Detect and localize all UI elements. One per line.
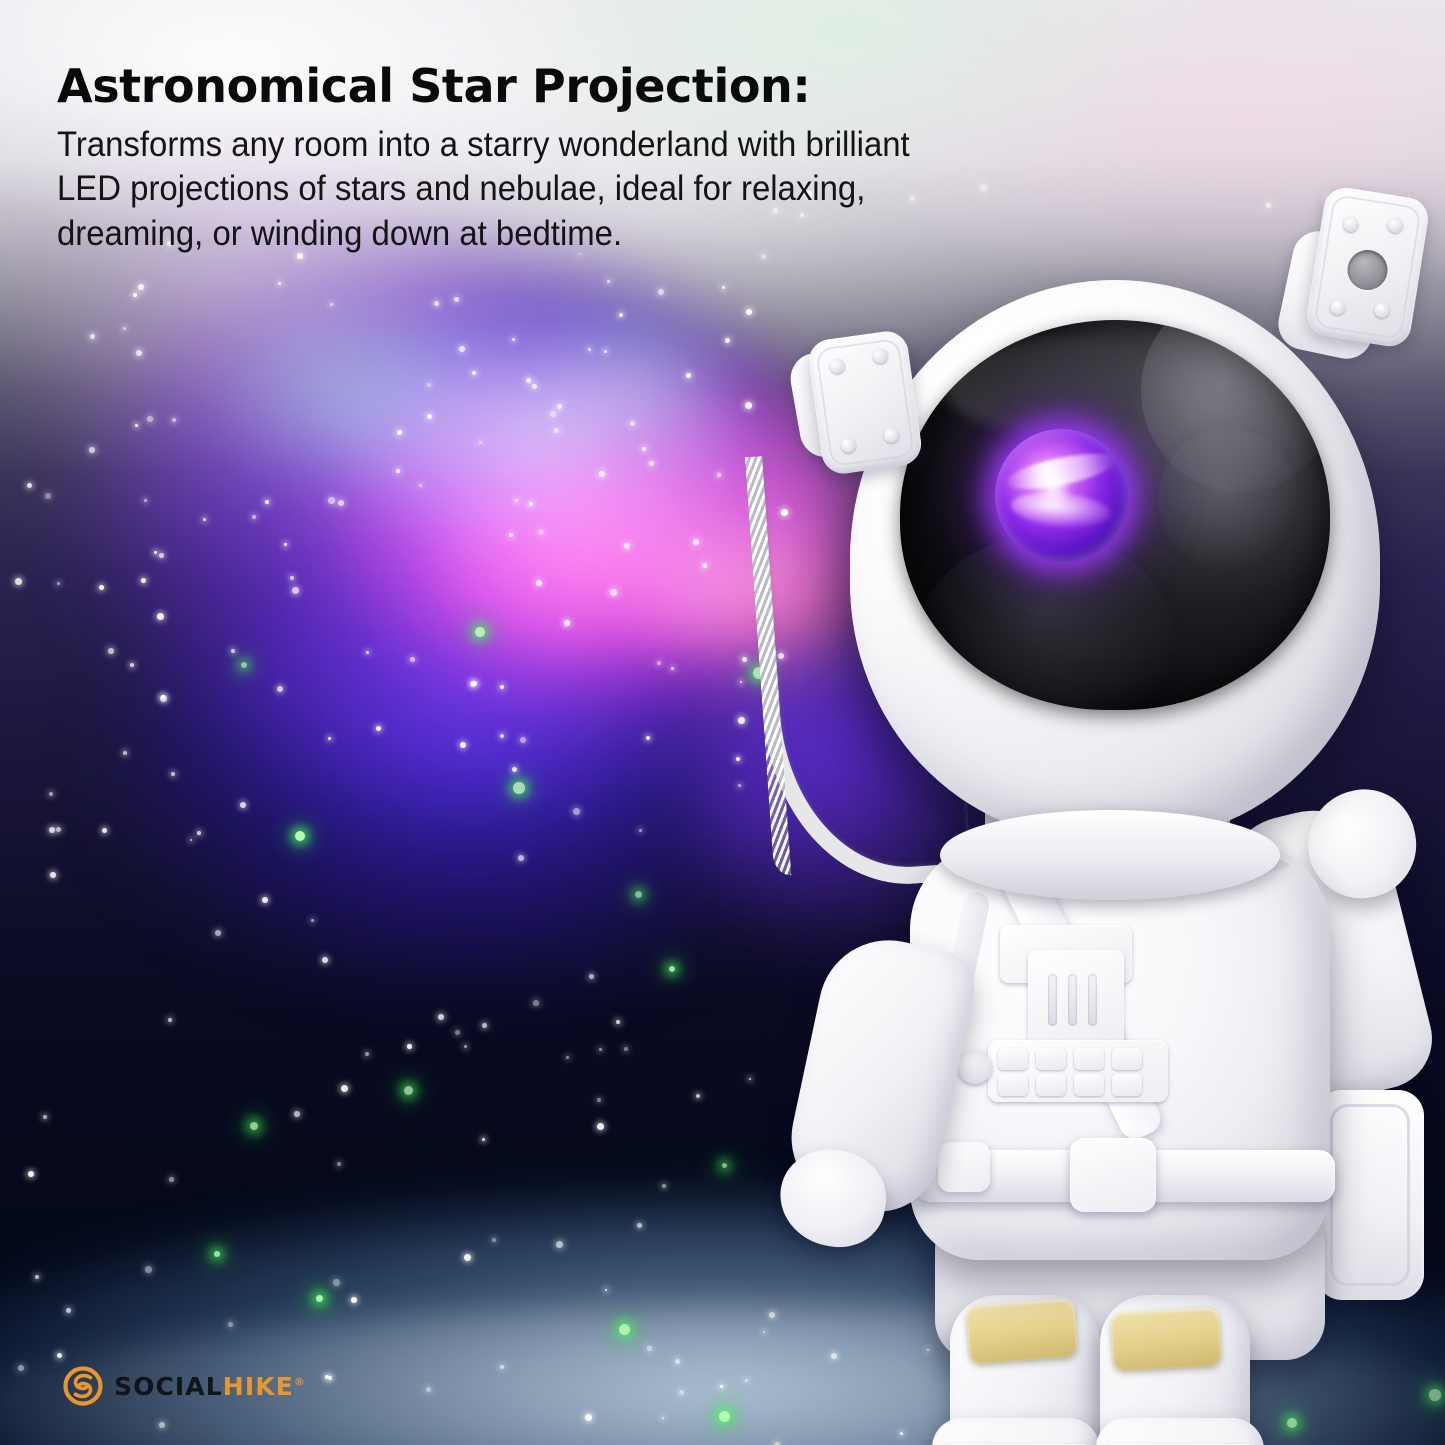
- brand-wordmark: SOCIALHIKE®: [114, 1372, 306, 1401]
- projector-lens: [995, 429, 1128, 562]
- helmet-visor: [900, 320, 1330, 710]
- registered-trademark-icon: ®: [294, 1375, 306, 1388]
- astronaut-right-boot: [1096, 1418, 1264, 1445]
- helmet-collar: [940, 810, 1280, 900]
- astronaut-left-boot: [932, 1418, 1100, 1445]
- chest-panel-mid: [1028, 950, 1124, 1046]
- helmet-side-panel-left: [806, 329, 924, 477]
- brand-word-primary: SOCIAL: [114, 1372, 223, 1401]
- body-copy: Transforms any room into a starry wonder…: [57, 123, 1194, 256]
- helmet-side-panel-right: [1304, 185, 1431, 350]
- headline: Astronomical Star Projection:: [57, 62, 1267, 111]
- belt-buckle: [1070, 1138, 1156, 1212]
- astronaut-projector: [760, 150, 1445, 1445]
- socialhike-spiral-icon: [63, 1366, 103, 1406]
- belt-clip-left: [938, 1142, 990, 1192]
- brand-word-secondary: HIKE: [223, 1372, 294, 1401]
- product-feature-card: Astronomical Star Projection: Transforms…: [0, 0, 1445, 1445]
- chest-dial-knob: [958, 1050, 992, 1084]
- copy-block: Astronomical Star Projection: Transforms…: [57, 62, 1267, 256]
- chest-panel-buttons: [988, 1040, 1168, 1102]
- knee-pad-left: [966, 1298, 1078, 1363]
- brand-logo[interactable]: SOCIALHIKE®: [63, 1366, 306, 1406]
- knee-pad-right: [1111, 1307, 1222, 1371]
